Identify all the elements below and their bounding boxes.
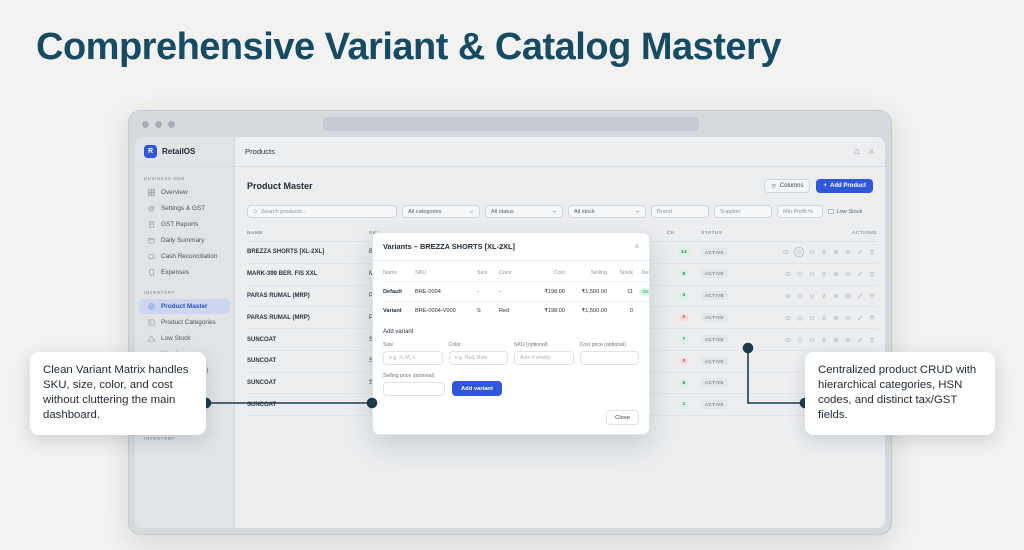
screenshot-root: Comprehensive Variant & Catalog Mastery … bbox=[0, 0, 1024, 550]
right-connector-endpoint bbox=[744, 344, 753, 353]
callout-right: Centralized product CRUD with hierarchic… bbox=[805, 352, 995, 435]
left-connector-endpoint bbox=[368, 399, 377, 408]
callout-connectors bbox=[0, 0, 1024, 550]
callout-left: Clean Variant Matrix handles SKU, size, … bbox=[30, 352, 206, 435]
right-connector-line bbox=[748, 348, 805, 403]
